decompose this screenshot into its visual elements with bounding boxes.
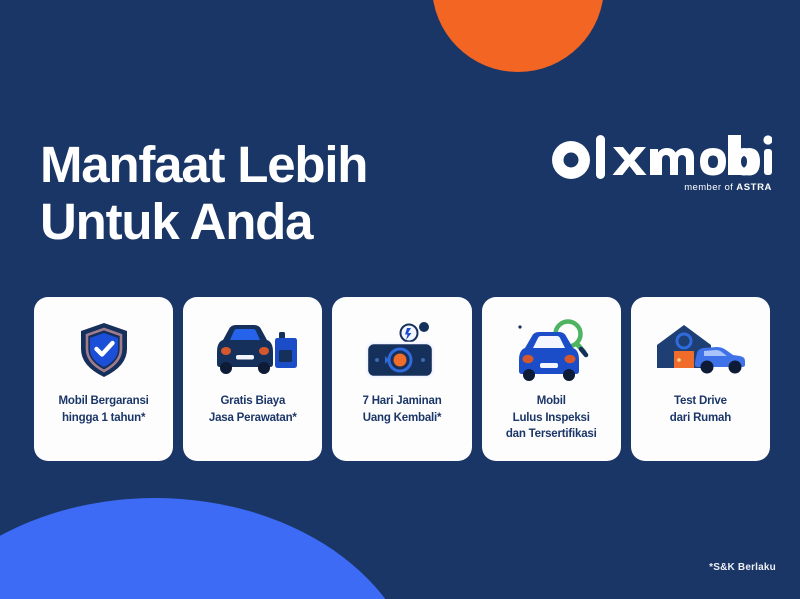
home-test-drive-icon [654, 322, 746, 378]
benefit-card-money-back[interactable]: 7 Hari Jaminan Uang Kembali* [332, 297, 471, 461]
card-label: Gratis Biaya Jasa Perawatan* [203, 393, 303, 426]
logo-mark [550, 136, 772, 178]
car-oil-bottle-icon [209, 322, 297, 378]
oil-bottle-shape [275, 332, 297, 368]
benefit-cards-row: Mobil Bergaransi hingga 1 tahun* [34, 297, 770, 461]
card-icon-slot [631, 319, 770, 381]
card-label: Mobil Bergaransi hingga 1 tahun* [53, 393, 155, 426]
card-label: Test Drive dari Rumah [664, 393, 737, 426]
page-title: Manfaat Lebih Untuk Anda [40, 136, 367, 250]
car-inspection-icon [513, 317, 589, 383]
logo-member-brand: ASTRA [736, 182, 772, 193]
terms-footnote: *S&K Berlaku [709, 562, 776, 573]
benefit-card-free-service[interactable]: Gratis Biaya Jasa Perawatan* [183, 297, 322, 461]
blue-circle-decoration [0, 498, 420, 599]
money-back-icon [363, 319, 441, 381]
brand-logo: member of ASTRA [550, 136, 772, 193]
poster-canvas: Manfaat Lebih Untuk Anda mem [0, 0, 800, 599]
benefit-card-inspection[interactable]: Mobil Lulus Inspeksi dan Tersertifikasi [482, 297, 621, 461]
logo-member-prefix: member of [684, 182, 736, 193]
card-label: 7 Hari Jaminan Uang Kembali* [357, 393, 448, 426]
olxmobbi-wordmark-icon [550, 134, 772, 180]
car-side-shape [695, 347, 745, 374]
shield-check-icon [77, 321, 131, 379]
benefit-card-warranty[interactable]: Mobil Bergaransi hingga 1 tahun* [34, 297, 173, 461]
card-icon-slot [34, 319, 173, 381]
card-icon-slot [482, 319, 621, 381]
benefit-card-home-test-drive[interactable]: Test Drive dari Rumah [631, 297, 770, 461]
logo-member-of: member of ASTRA [550, 182, 772, 193]
card-icon-slot [332, 319, 471, 381]
car-front-shape [519, 332, 579, 381]
card-icon-slot [183, 319, 322, 381]
car-front-shape [217, 325, 273, 374]
card-label: Mobil Lulus Inspeksi dan Tersertifikasi [500, 393, 603, 443]
orange-circle-decoration [432, 0, 604, 72]
